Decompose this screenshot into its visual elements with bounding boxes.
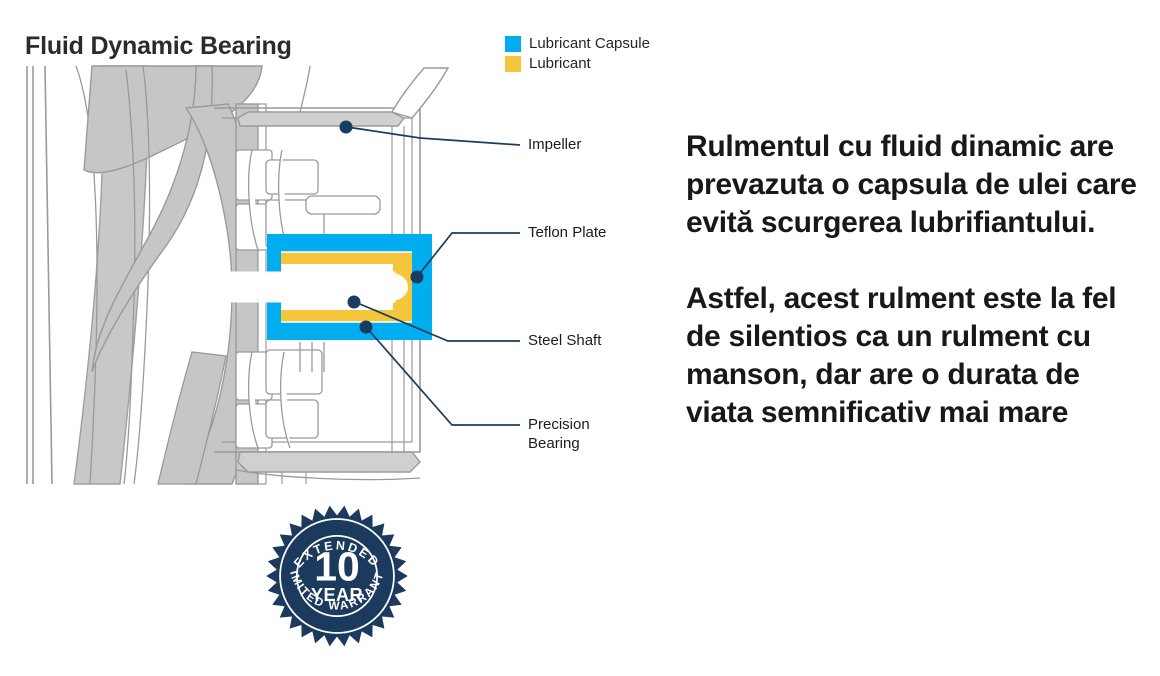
callout-label-steel-shaft: Steel Shaft <box>528 331 601 350</box>
copy-paragraph-1: Rulmentul cu fluid dinamic are prevazuta… <box>686 128 1154 242</box>
infographic-root: Fluid Dynamic Bearing <box>0 0 1160 676</box>
callout-label-line-2: Bearing <box>528 435 580 452</box>
square-swatch-icon <box>505 56 521 72</box>
callout-label-teflon-plate: Teflon Plate <box>528 223 606 242</box>
legend-item-lubricant-capsule: Lubricant Capsule <box>505 36 650 52</box>
warranty-seal-icon: EXTENDED LIMITED WARRANTY 10 YEAR <box>264 503 410 649</box>
seal-number: 10 <box>314 543 359 589</box>
callout-label-precision-bearing: Precision Bearing <box>528 415 638 453</box>
warranty-badge: EXTENDED LIMITED WARRANTY 10 YEAR <box>264 503 410 649</box>
paragraph-spacer <box>686 242 1154 280</box>
callout-dot-precision-bearing <box>360 321 373 334</box>
legend: Lubricant Capsule Lubricant <box>505 36 650 72</box>
bearing-diagram-panel: Fluid Dynamic Bearing <box>0 0 680 500</box>
legend-item-lubricant: Lubricant <box>505 56 650 72</box>
callout-dot-steel-shaft <box>348 296 361 309</box>
legend-label: Lubricant <box>529 56 591 72</box>
callout-dot-teflon-plate <box>411 271 424 284</box>
callout-dot-impeller <box>340 121 353 134</box>
description-copy: Rulmentul cu fluid dinamic are prevazuta… <box>686 128 1154 432</box>
callout-label-impeller: Impeller <box>528 135 581 154</box>
seal-unit: YEAR <box>311 584 363 605</box>
copy-paragraph-2: Astfel, acest rulment este la fel de sil… <box>686 280 1154 432</box>
callout-label-line-1: Precision <box>528 416 590 433</box>
legend-label: Lubricant Capsule <box>529 36 650 52</box>
square-swatch-icon <box>505 36 521 52</box>
